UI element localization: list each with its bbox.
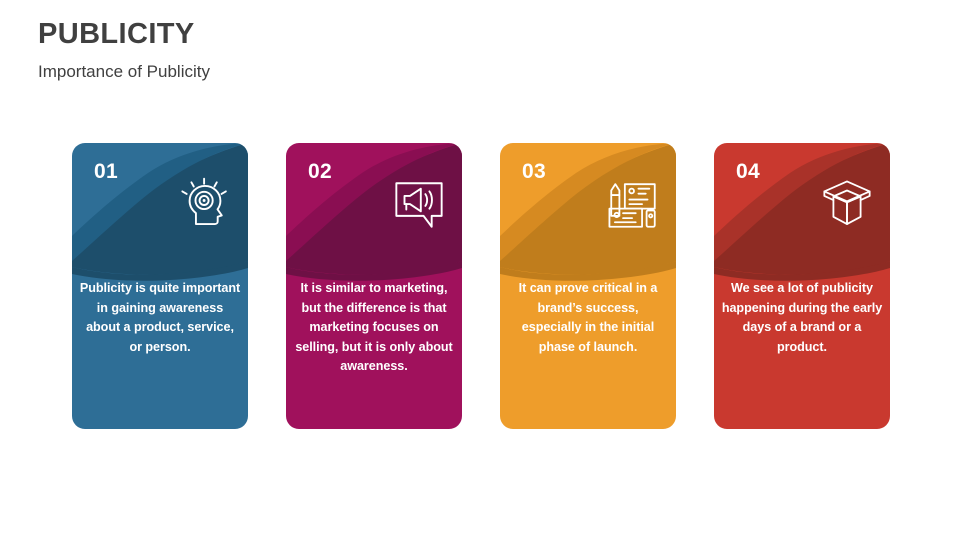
page-subtitle: Importance of Publicity — [38, 60, 210, 84]
card-03[interactable]: 03 — [500, 143, 676, 429]
card-01[interactable]: 01 Publicity is quite important in gaini… — [72, 143, 248, 429]
card-04[interactable]: 04 We see a lot of publicity happening d… — [714, 143, 890, 429]
card-number: 02 — [308, 160, 332, 184]
card-number: 04 — [736, 160, 760, 184]
card-row: 01 Publicity is quite important in gaini… — [72, 143, 890, 429]
megaphone-speech-bubble-icon — [390, 176, 448, 234]
head-target-idea-icon — [176, 176, 234, 234]
card-number: 01 — [94, 160, 118, 184]
slide-header: PUBLICITY Importance of Publicity — [38, 16, 210, 84]
card-number: 03 — [522, 160, 546, 184]
page-title: PUBLICITY — [38, 16, 210, 52]
card-description: We see a lot of publicity happening duri… — [721, 279, 883, 357]
card-description: It can prove critical in a brand’s succe… — [507, 279, 669, 357]
open-box-icon — [818, 176, 876, 234]
card-description: It is similar to marketing, but the diff… — [293, 279, 455, 377]
slide: PUBLICITY Importance of Publicity 01 — [0, 0, 960, 540]
card-description: Publicity is quite important in gaining … — [79, 279, 241, 357]
stationery-branding-icon — [604, 176, 662, 234]
card-02[interactable]: 02 It is similar to marketing, but the d… — [286, 143, 462, 429]
